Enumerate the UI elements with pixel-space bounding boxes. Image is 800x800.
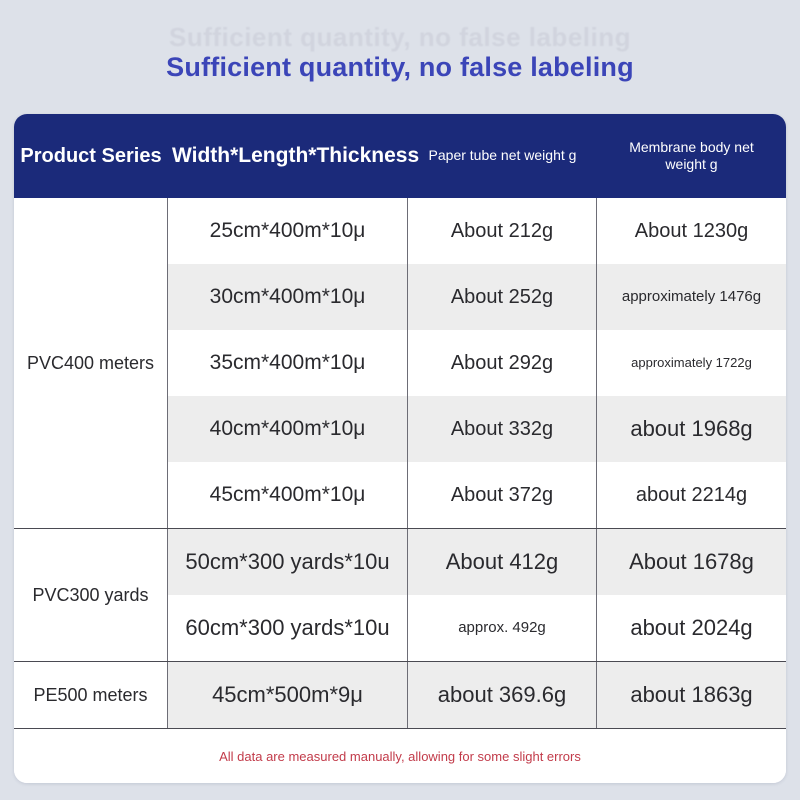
cell-paper-tube-weight: About 292g [408,330,597,396]
table-group: PE500 meters45cm*500m*9μabout 369.6gabou… [14,661,786,728]
column-header-membrane-weight: Membrane body net weight g [597,139,786,174]
cell-paper-tube-weight: About 212g [408,198,597,264]
cell-membrane-weight: about 1968g [597,396,786,462]
column-header-dimensions: Width*Length*Thickness [168,143,408,169]
cell-paper-tube-weight: About 332g [408,396,597,462]
group-rows: 45cm*500m*9μabout 369.6gabout 1863g [168,662,786,728]
table-row: 35cm*400m*10μAbout 292gapproximately 172… [168,330,786,396]
cell-paper-tube-weight: about 369.6g [408,662,597,728]
table-row: 25cm*400m*10μAbout 212gAbout 1230g [168,198,786,264]
cell-paper-tube-weight: approx. 492g [408,595,597,661]
page-title-ghost: Sufficient quantity, no false labeling [0,22,800,53]
table-header-row: Product Series Width*Length*Thickness Pa… [14,114,786,198]
table-row: 40cm*400m*10μAbout 332gabout 1968g [168,396,786,462]
cell-dimensions: 45cm*400m*10μ [168,462,408,528]
group-series-label: PVC300 yards [14,529,168,661]
cell-dimensions: 45cm*500m*9μ [168,662,408,728]
cell-membrane-weight: about 2024g [597,595,786,661]
table-row: 50cm*300 yards*10uAbout 412gAbout 1678g [168,529,786,595]
group-series-label: PVC400 meters [14,198,168,528]
cell-paper-tube-weight: About 372g [408,462,597,528]
table-group: PVC300 yards50cm*300 yards*10uAbout 412g… [14,528,786,661]
cell-paper-tube-weight: About 412g [408,529,597,595]
group-rows: 50cm*300 yards*10uAbout 412gAbout 1678g6… [168,529,786,661]
table-row: 60cm*300 yards*10uapprox. 492gabout 2024… [168,595,786,661]
cell-membrane-weight: approximately 1476g [597,264,786,330]
cell-dimensions: 60cm*300 yards*10u [168,595,408,661]
cell-membrane-weight: approximately 1722g [597,330,786,396]
cell-dimensions: 35cm*400m*10μ [168,330,408,396]
cell-membrane-weight: About 1678g [597,529,786,595]
table-group: PVC400 meters25cm*400m*10μAbout 212gAbou… [14,198,786,528]
table-row: 45cm*500m*9μabout 369.6gabout 1863g [168,662,786,728]
footer-note: All data are measured manually, allowing… [14,729,786,783]
cell-dimensions: 50cm*300 yards*10u [168,529,408,595]
group-rows: 25cm*400m*10μAbout 212gAbout 1230g30cm*4… [168,198,786,528]
table-body: PVC400 meters25cm*400m*10μAbout 212gAbou… [14,198,786,728]
cell-dimensions: 30cm*400m*10μ [168,264,408,330]
cell-dimensions: 25cm*400m*10μ [168,198,408,264]
cell-dimensions: 40cm*400m*10μ [168,396,408,462]
cell-membrane-weight: about 1863g [597,662,786,728]
column-header-paper-tube-weight: Paper tube net weight g [408,147,597,165]
cell-membrane-weight: About 1230g [597,198,786,264]
table-row: 45cm*400m*10μAbout 372gabout 2214g [168,462,786,528]
group-series-label: PE500 meters [14,662,168,728]
page-title: Sufficient quantity, no false labeling [0,52,800,83]
cell-paper-tube-weight: About 252g [408,264,597,330]
column-header-product-series: Product Series [14,144,168,169]
cell-membrane-weight: about 2214g [597,462,786,528]
spec-table-card: Product Series Width*Length*Thickness Pa… [14,114,786,783]
table-row: 30cm*400m*10μAbout 252gapproximately 147… [168,264,786,330]
